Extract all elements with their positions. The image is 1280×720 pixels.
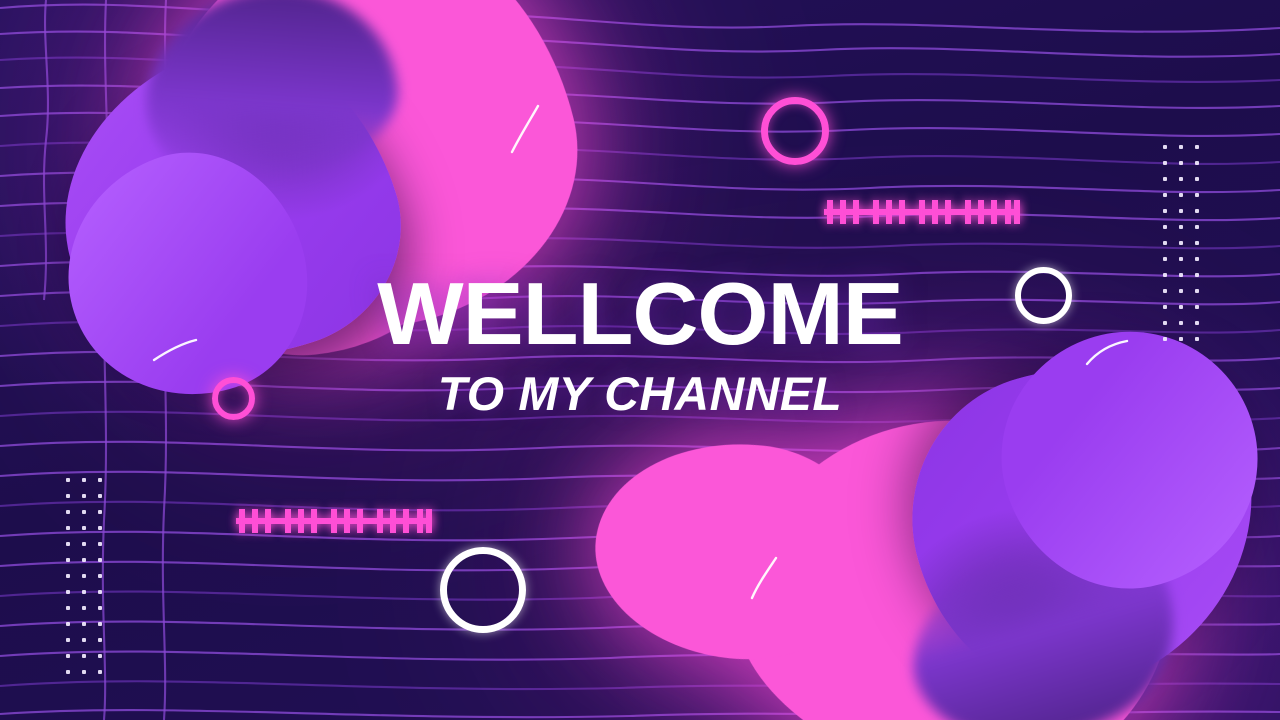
grid-dot — [82, 542, 86, 546]
grid-dot — [1179, 161, 1183, 165]
grid-dot — [98, 654, 102, 658]
grid-dot — [1195, 289, 1199, 293]
grid-dot — [1163, 337, 1167, 341]
grid-dot — [98, 574, 102, 578]
grid-dot — [98, 478, 102, 482]
grid-dot — [1179, 273, 1183, 277]
grid-dot — [66, 526, 70, 530]
grid-dot — [1163, 321, 1167, 325]
grid-dot — [82, 478, 86, 482]
grid-dot — [1195, 193, 1199, 197]
grid-dot — [98, 558, 102, 562]
grid-dot — [1163, 225, 1167, 229]
grid-dot — [1179, 289, 1183, 293]
grid-dot — [1179, 241, 1183, 245]
arc-accent-right — [1085, 338, 1129, 368]
arc-accent-top — [508, 104, 548, 156]
grid-dot — [66, 558, 70, 562]
grid-dot — [82, 494, 86, 498]
grid-dot — [66, 478, 70, 482]
grid-dot — [66, 606, 70, 610]
grid-dot — [66, 510, 70, 514]
grid-dot — [98, 622, 102, 626]
grid-dot — [1179, 305, 1183, 309]
grid-dot — [1195, 273, 1199, 277]
grid-dot — [98, 494, 102, 498]
grid-dot — [1195, 305, 1199, 309]
grid-dot — [1163, 241, 1167, 245]
grid-dot — [82, 526, 86, 530]
grid-dot — [66, 622, 70, 626]
grid-dot — [1195, 209, 1199, 213]
grid-dot — [1163, 289, 1167, 293]
dot-grid-left — [66, 478, 110, 688]
grid-dot — [66, 574, 70, 578]
grid-dot — [1163, 161, 1167, 165]
grid-dot — [98, 510, 102, 514]
grid-dot — [98, 638, 102, 642]
grid-dot — [1179, 321, 1183, 325]
grid-dot — [82, 654, 86, 658]
grid-dot — [98, 590, 102, 594]
welcome-banner: WELLCOME TO MY CHANNEL — [0, 0, 1280, 720]
grid-dot — [98, 526, 102, 530]
grid-dot — [66, 590, 70, 594]
grid-dot — [1163, 305, 1167, 309]
grid-dot — [66, 654, 70, 658]
grid-dot — [82, 590, 86, 594]
grid-dot — [66, 494, 70, 498]
grid-dot — [1179, 257, 1183, 261]
grid-dot — [1195, 177, 1199, 181]
grid-dot — [1195, 337, 1199, 341]
grid-dot — [98, 542, 102, 546]
arc-accent-left — [152, 338, 200, 364]
ring-white-bottom — [440, 547, 526, 633]
grid-dot — [1179, 337, 1183, 341]
grid-dot — [1163, 257, 1167, 261]
grid-dot — [1163, 177, 1167, 181]
dot-grid-right — [1163, 145, 1207, 355]
grid-dot — [1195, 225, 1199, 229]
grid-dot — [1179, 225, 1183, 229]
ring-pink-top-right — [761, 97, 829, 165]
ring-white-right — [1015, 267, 1072, 324]
grid-dot — [1195, 145, 1199, 149]
grid-dot — [66, 542, 70, 546]
grid-dot — [1179, 209, 1183, 213]
arc-accent-bottom — [748, 556, 782, 602]
grid-dot — [82, 574, 86, 578]
grid-dot — [98, 606, 102, 610]
tally-marks-upper-right — [824, 196, 1024, 228]
grid-dot — [1195, 161, 1199, 165]
grid-dot — [1163, 193, 1167, 197]
grid-dot — [1195, 241, 1199, 245]
grid-dot — [82, 558, 86, 562]
grid-dot — [82, 622, 86, 626]
tally-marks-lower-left — [236, 505, 436, 537]
grid-dot — [82, 510, 86, 514]
grid-dot — [66, 638, 70, 642]
grid-dot — [1163, 145, 1167, 149]
grid-dot — [1179, 145, 1183, 149]
grid-dot — [82, 606, 86, 610]
grid-dot — [82, 670, 86, 674]
grid-dot — [1163, 209, 1167, 213]
grid-dot — [66, 670, 70, 674]
grid-dot — [1163, 273, 1167, 277]
grid-dot — [1179, 177, 1183, 181]
grid-dot — [82, 638, 86, 642]
grid-dot — [1179, 193, 1183, 197]
grid-dot — [1195, 257, 1199, 261]
grid-dot — [1195, 321, 1199, 325]
ring-pink-left — [212, 377, 255, 420]
grid-dot — [98, 670, 102, 674]
